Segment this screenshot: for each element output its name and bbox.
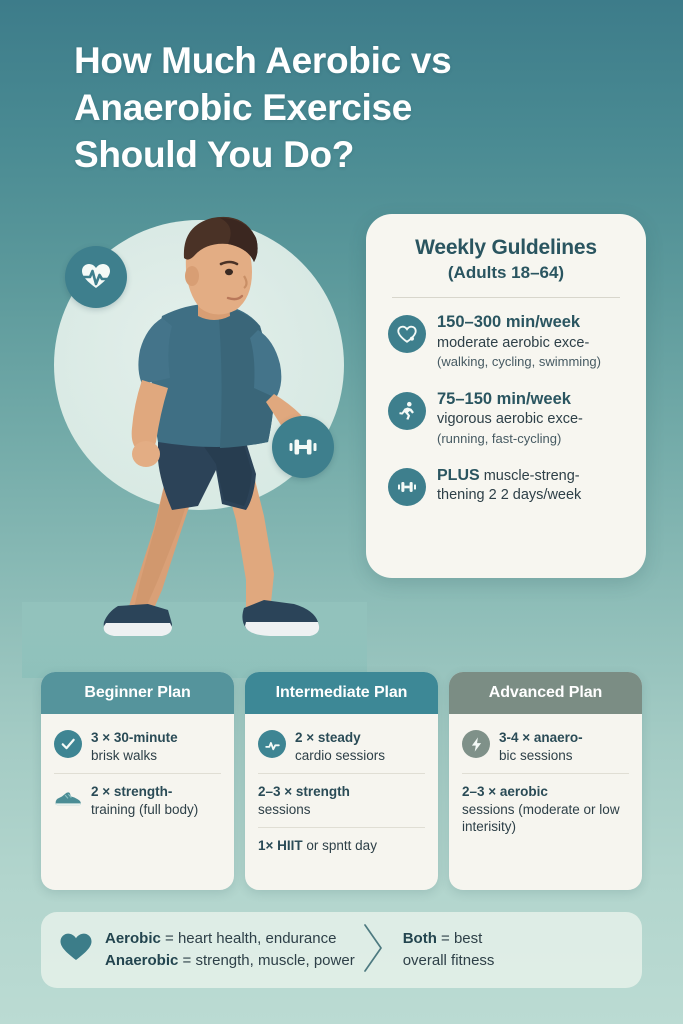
sneaker-icon — [54, 784, 82, 812]
plan-title-advanced: Advanced Plan — [449, 672, 642, 714]
summary-both-label: Both — [403, 930, 437, 947]
plan-item-text: 1× HIIT or spntt day — [258, 837, 425, 855]
guideline-detail: muscle-streng- — [484, 468, 580, 484]
plan-item-text: 2 × steady cardio sessiors — [295, 729, 425, 764]
plan-item-text: 3-4 × anaero- bic sessions — [499, 729, 629, 764]
plan-cards: Beginner Plan 3 × 30-minute brisk walks — [41, 672, 642, 890]
guideline-text: 150–300 min/week moderate aerobic exce- … — [437, 312, 601, 371]
plan-item: 3 × 30-minute brisk walks — [54, 720, 221, 773]
guideline-item-muscle-strengthening: PLUS muscle-streng- thening 2 2 days/wee… — [366, 465, 646, 506]
summary-aerobic-line: Aerobic = heart health, endurance — [105, 928, 355, 950]
plan-item: 2 × steady cardio sessiors — [258, 720, 425, 773]
title-line-2: Anaerobic Exercise — [74, 85, 634, 132]
summary-anaerobic-label: Anaerobic — [105, 952, 178, 969]
heart-outline-icon — [388, 315, 426, 353]
plan-item-rest: bic sessions — [499, 748, 573, 763]
plan-item: 3-4 × anaero- bic sessions — [462, 720, 629, 773]
plan-item-rest: sessions (moderate or low interisity) — [462, 802, 620, 835]
plan-item-strong: 2 × steady — [295, 730, 361, 745]
plan-item-rest: cardio sessiors — [295, 748, 385, 763]
plan-item-rest: sessions — [258, 802, 311, 817]
hero-illustration — [22, 198, 367, 678]
summary-divider-slash — [361, 921, 387, 980]
guideline-headline: 150–300 min/week — [437, 312, 601, 334]
plan-item-rest: training (full body) — [91, 802, 198, 817]
dumbbell-icon — [388, 468, 426, 506]
summary-right-text: Both = best overall fitness — [403, 928, 495, 972]
weekly-guidelines-card: Weekly Guldelines (Adults 18–64) 150–300… — [366, 214, 646, 578]
guideline-plus-label: PLUS — [437, 467, 480, 484]
guideline-text: 75–150 min/week vigorous aerobic exce- (… — [437, 389, 583, 448]
plan-item-text: 2 × strength- training (full body) — [91, 783, 221, 818]
plan-item: 2–3 × strength sessions — [258, 773, 425, 827]
plan-body-beginner: 3 × 30-minute brisk walks 2 × strength- — [41, 714, 234, 890]
plan-item-strong: 3 × 30-minute — [91, 730, 178, 745]
dumbbell-icon — [272, 416, 334, 478]
plan-item-text: 2–3 × aerobic sessions (moderate or low … — [462, 783, 629, 836]
plan-card-beginner[interactable]: Beginner Plan 3 × 30-minute brisk walks — [41, 672, 234, 890]
heart-pulse-icon — [65, 246, 127, 308]
guideline-detail: moderate aerobic exce- — [437, 334, 601, 353]
plan-item: 2–3 × aerobic sessions (moderate or low … — [462, 773, 629, 845]
guideline-text: PLUS muscle-streng- thening 2 2 days/wee… — [437, 465, 581, 506]
plan-body-intermediate: 2 × steady cardio sessiors 2–3 × strengt… — [245, 714, 438, 890]
summary-both-line: Both = best — [403, 928, 495, 950]
pulse-circle-icon — [258, 730, 286, 758]
plan-item-text: 3 × 30-minute brisk walks — [91, 729, 221, 764]
plan-item-text: 2–3 × strength sessions — [258, 783, 425, 818]
guidelines-divider — [392, 297, 620, 298]
plan-item-rest: brisk walks — [91, 748, 157, 763]
title-line-3: Should You Do? — [74, 132, 634, 179]
guidelines-title: Weekly Guldelines — [366, 236, 646, 260]
plan-title-beginner: Beginner Plan — [41, 672, 234, 714]
page-title: How Much Aerobic vs Anaerobic Exercise S… — [74, 38, 634, 179]
summary-overall-fitness: overall fitness — [403, 950, 495, 972]
plan-item-strong: 1× HIIT — [258, 838, 303, 853]
guideline-item-vigorous-aerobic: 75–150 min/week vigorous aerobic exce- (… — [366, 389, 646, 448]
guideline-note: (running, fast-cycling) — [437, 430, 583, 447]
heart-filled-icon — [59, 932, 93, 967]
check-circle-icon — [54, 730, 82, 758]
guideline-headline-inline: PLUS muscle-streng- — [437, 465, 581, 486]
bolt-icon — [462, 730, 490, 758]
summary-both-rest: = best — [437, 930, 482, 947]
summary-bar: Aerobic = heart health, endurance Anaero… — [41, 912, 642, 988]
title-line-1: How Much Aerobic vs — [74, 38, 634, 85]
summary-anaerobic-line: Anaerobic = strength, muscle, power — [105, 950, 355, 972]
runner-icon — [388, 392, 426, 430]
guideline-item-moderate-aerobic: 150–300 min/week moderate aerobic exce- … — [366, 312, 646, 371]
summary-aerobic-label: Aerobic — [105, 930, 161, 947]
guidelines-subtitle: (Adults 18–64) — [366, 263, 646, 283]
summary-anaerobic-rest: = strength, muscle, power — [178, 952, 354, 969]
plan-item: 1× HIIT or spntt day — [258, 827, 425, 864]
plan-card-advanced[interactable]: Advanced Plan 3-4 × anaero- bic sessions — [449, 672, 642, 890]
guideline-detail: vigorous aerobic exce- — [437, 410, 583, 429]
infographic-poster: How Much Aerobic vs Anaerobic Exercise S… — [0, 0, 683, 1024]
summary-aerobic-rest: = heart health, endurance — [161, 930, 337, 947]
guideline-headline: 75–150 min/week — [437, 389, 583, 411]
guideline-note: thening 2 2 days/week — [437, 486, 581, 505]
plan-item-strong: 3-4 × anaero- — [499, 730, 583, 745]
summary-left-text: Aerobic = heart health, endurance Anaero… — [105, 928, 355, 972]
guideline-note: (walking, cycling, swimming) — [437, 353, 601, 370]
plan-item: 2 × strength- training (full body) — [54, 773, 221, 827]
guidelines-list: 150–300 min/week moderate aerobic exce- … — [366, 312, 646, 506]
plan-item-strong: 2–3 × strength — [258, 784, 350, 799]
plan-title-intermediate: Intermediate Plan — [245, 672, 438, 714]
plan-body-advanced: 3-4 × anaero- bic sessions 2–3 × aerobic… — [449, 714, 642, 890]
plan-item-strong: 2–3 × aerobic — [462, 784, 548, 799]
plan-card-intermediate[interactable]: Intermediate Plan 2 × steady cardio sess… — [245, 672, 438, 890]
plan-item-strong: 2 × strength- — [91, 784, 172, 799]
plan-item-rest: or spntt day — [306, 838, 377, 853]
